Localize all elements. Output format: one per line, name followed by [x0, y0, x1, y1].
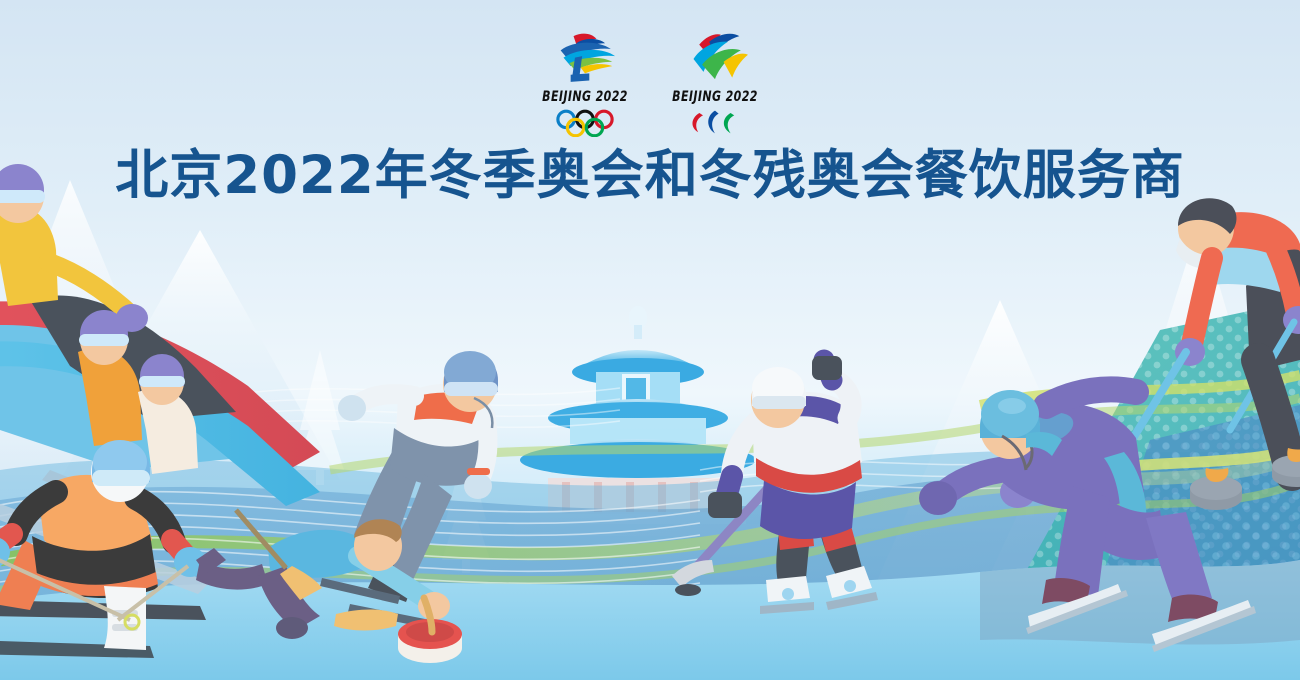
curling-stone — [1190, 468, 1242, 510]
athlete-speed-skating — [919, 389, 1256, 652]
paralympic-emblem: BEIJING 2022 — [669, 30, 761, 136]
paralympic-emblem-mark — [672, 30, 758, 88]
olympic-emblem-mark — [542, 30, 628, 88]
page-title: 北京2022年冬季奥会和冬残奥会餐饮服务商 — [0, 146, 1300, 206]
athlete-ice-hockey — [672, 356, 878, 614]
olympic-wordmark: BEIJING 2022 — [542, 88, 628, 104]
emblem-row: BEIJING 2022 BEIJING 2022 — [0, 30, 1300, 137]
curling-stone — [398, 598, 462, 663]
beijing-2022-banner: BEIJING 2022 BEIJING 2022 — [0, 0, 1300, 680]
agitos-icon — [685, 108, 745, 136]
paralympic-wordmark: BEIJING 2022 — [672, 88, 758, 104]
olympic-rings-icon — [553, 108, 617, 137]
athlete-alpine-skiing — [0, 440, 206, 658]
olympic-emblem: BEIJING 2022 — [539, 30, 631, 137]
